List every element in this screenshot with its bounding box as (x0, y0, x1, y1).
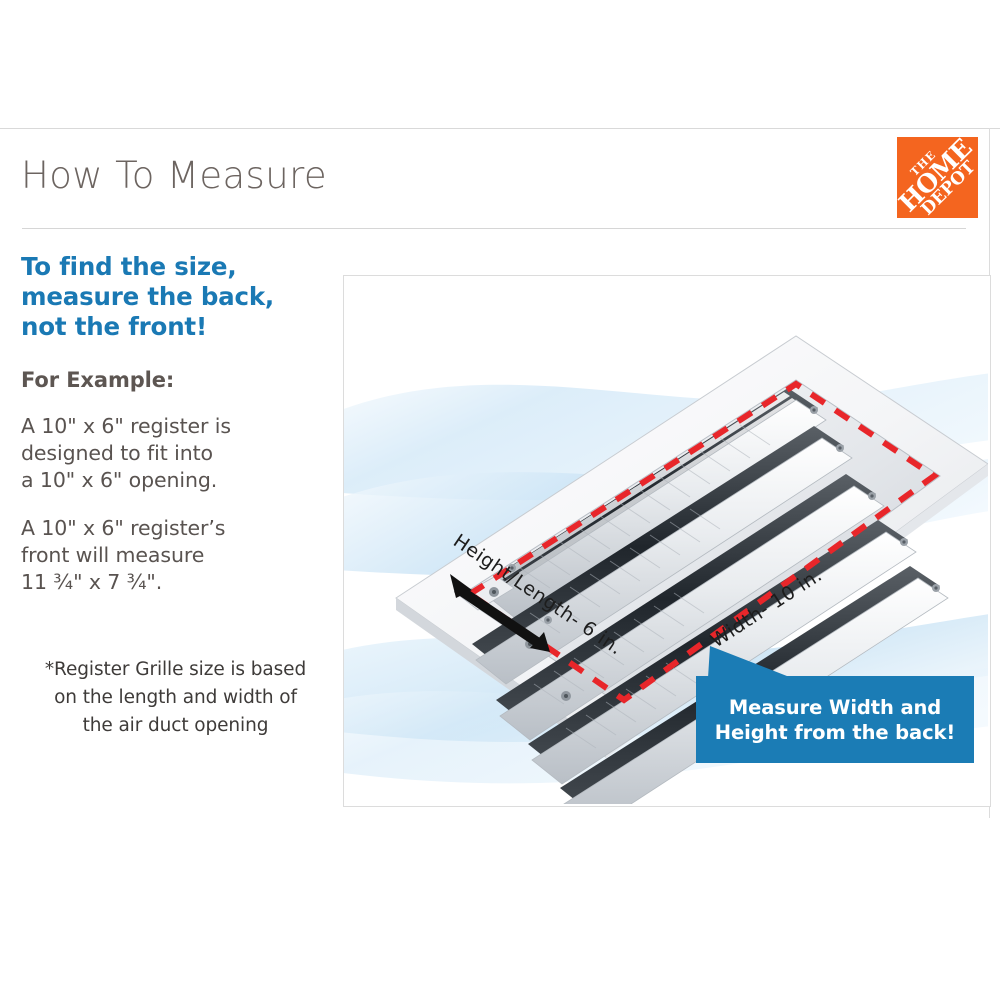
callout-pointer-tail (704, 644, 794, 680)
header-divider (22, 228, 966, 229)
lead-heading: To find the size, measure the back, not … (21, 252, 331, 342)
body-paragraph-1: A 10" x 6" register is designed to fit i… (21, 413, 331, 494)
illustration-stage: Height/Length- 6 in. Width- 10 in. Measu… (344, 276, 988, 804)
for-example-label: For Example: (21, 368, 331, 392)
page-title: How To Measure (21, 154, 327, 197)
logo-text-block: THE HOME DEPOT (897, 137, 978, 218)
body-paragraph-2: A 10" x 6" register’s front will measure… (21, 515, 331, 596)
callout-text: Measure Width and Height from the back! (696, 676, 974, 763)
header-top-rule (0, 128, 1000, 129)
footnote-text: *Register Grille size is based on the le… (24, 656, 327, 740)
callout-box: Measure Width and Height from the back! (696, 676, 974, 763)
page-root: How To Measure THE HOME DEPOT To find th… (0, 0, 1000, 1000)
left-text-column: To find the size, measure the back, not … (21, 252, 331, 596)
illustration-panel: Height/Length- 6 in. Width- 10 in. Measu… (343, 275, 991, 807)
the-home-depot-logo: THE HOME DEPOT (897, 137, 978, 218)
